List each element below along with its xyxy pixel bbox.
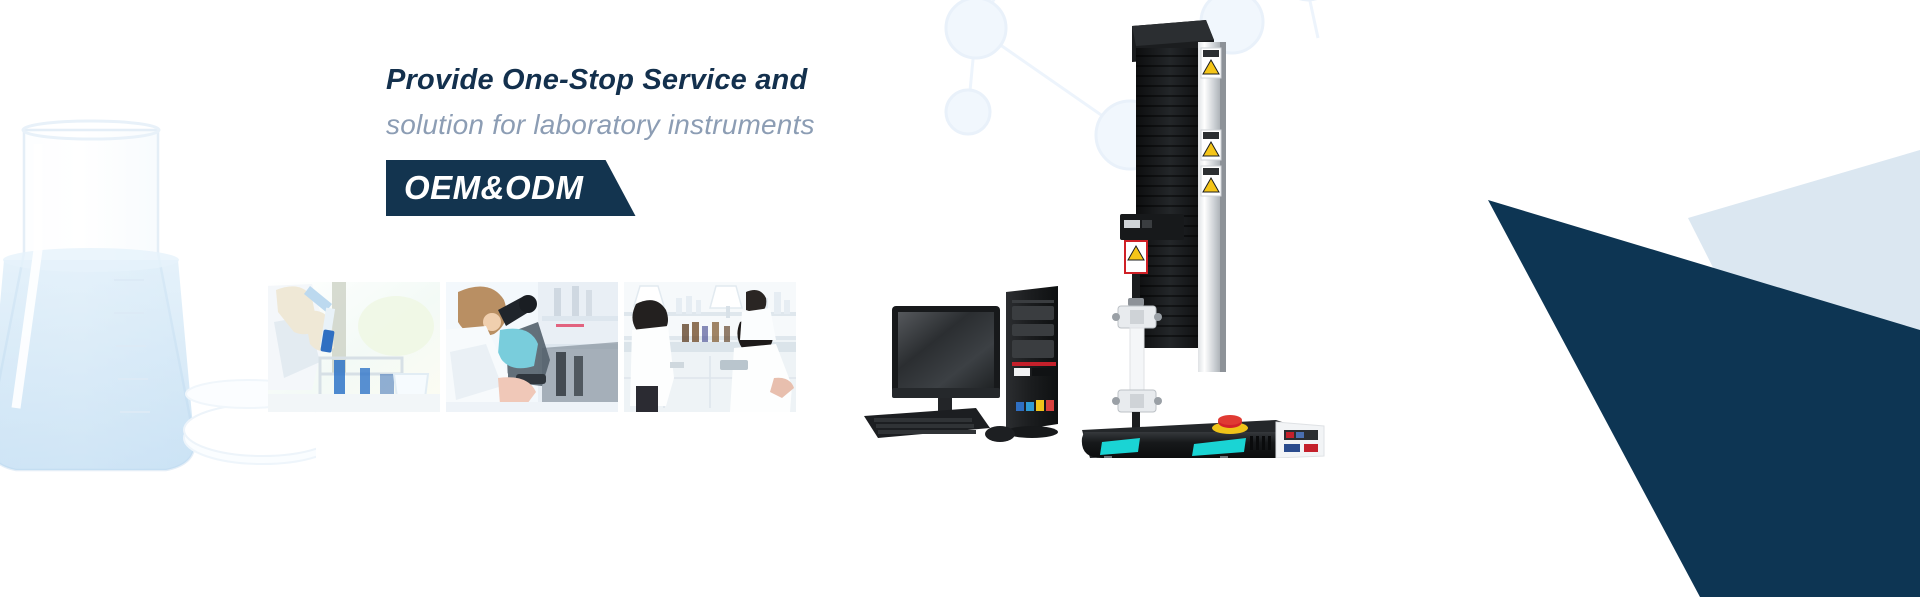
lab-photo-microscope bbox=[446, 282, 618, 412]
tester-photo bbox=[1080, 18, 1340, 458]
oem-odm-badge: OEM&ODM bbox=[386, 160, 636, 216]
equipment-group bbox=[840, 0, 1360, 597]
lab-photo-lab-bench bbox=[624, 282, 796, 412]
computer-tower bbox=[1006, 286, 1058, 438]
lab-photo-pipetting bbox=[268, 282, 440, 412]
machine-base bbox=[1082, 415, 1324, 458]
mouse bbox=[985, 426, 1015, 442]
emergency-stop-button bbox=[1212, 415, 1248, 434]
keyboard bbox=[864, 408, 990, 438]
hero-banner: Provide One-Stop Service and solution fo… bbox=[0, 0, 1920, 597]
navy-arrow bbox=[1488, 200, 1920, 597]
monitor bbox=[892, 306, 1000, 426]
lab-photo-strip bbox=[268, 282, 796, 412]
light-blue-wedge bbox=[1688, 150, 1920, 420]
bellows-cover bbox=[1136, 48, 1198, 348]
computer-photo bbox=[854, 282, 1074, 452]
